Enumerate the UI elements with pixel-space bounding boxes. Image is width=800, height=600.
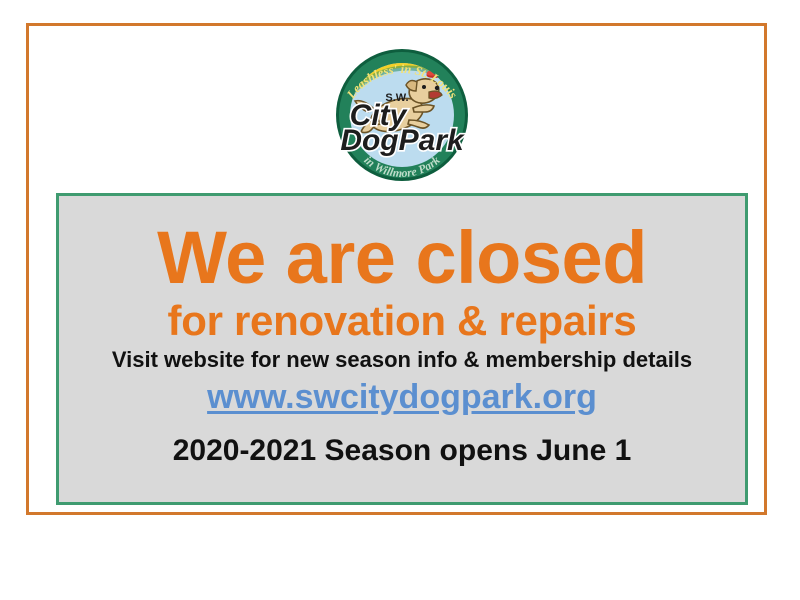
website-link[interactable]: www.swcitydogpark.org xyxy=(59,371,745,414)
season-open-text: 2020-2021 Season opens June 1 xyxy=(59,414,745,466)
logo-graphic: Leashless' in St. Louis in Willmore Park… xyxy=(325,46,479,184)
notice-instruction: Visit website for new season info & memb… xyxy=(59,342,745,371)
sw-city-dog-park-logo: Leashless' in St. Louis in Willmore Park… xyxy=(325,46,479,184)
notice-subhead: for renovation & repairs xyxy=(59,292,745,342)
flyer-frame: Leashless' in St. Louis in Willmore Park… xyxy=(26,23,767,515)
logo-word-dogpark: DogPark xyxy=(340,124,465,157)
notice-headline: We are closed xyxy=(59,196,745,292)
closure-notice-panel: We are closed for renovation & repairs V… xyxy=(56,193,748,505)
